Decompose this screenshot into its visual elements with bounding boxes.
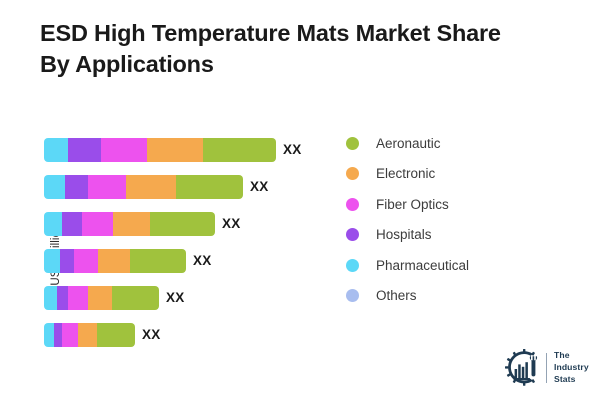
bar-row: XX (44, 286, 185, 310)
legend-item-electronic[interactable]: Electronic (346, 159, 546, 190)
bar-segment-electronic[interactable] (78, 323, 97, 347)
logo-wordmark: The Industry Stats (554, 350, 589, 386)
bar-segment-aeronautic[interactable] (112, 286, 159, 310)
stacked-bar[interactable] (44, 249, 186, 273)
stacked-bar[interactable] (44, 212, 215, 236)
legend-swatch-icon (346, 228, 359, 241)
bar-row: XX (44, 175, 269, 199)
logo-line-2: Industry (554, 362, 589, 372)
bar-segment-fiber-optics[interactable] (62, 323, 78, 347)
bar-segment-electronic[interactable] (126, 175, 176, 199)
bar-value-label: XX (283, 143, 302, 157)
bar-value-label: XX (250, 180, 269, 194)
bar-value-label: XX (166, 291, 185, 305)
bar-segment-electronic[interactable] (113, 212, 150, 236)
bar-segment-pharmaceutical[interactable] (44, 323, 54, 347)
legend-item-pharmaceutical[interactable]: Pharmaceutical (346, 250, 546, 281)
bar-segment-aeronautic[interactable] (176, 175, 243, 199)
bar-segment-pharmaceutical[interactable] (44, 175, 65, 199)
legend-item-aeronautic[interactable]: Aeronautic (346, 128, 546, 159)
legend-swatch-icon (346, 137, 359, 150)
legend-item-label: Fiber Optics (376, 198, 449, 212)
bar-segment-hospitals[interactable] (62, 212, 82, 236)
bar-segment-fiber-optics[interactable] (88, 175, 126, 199)
bar-segment-aeronautic[interactable] (203, 138, 276, 162)
bar-segment-hospitals[interactable] (68, 138, 101, 162)
chart-container: ESD High Temperature Mats Market Share B… (0, 0, 600, 400)
bar-segment-electronic[interactable] (88, 286, 112, 310)
bar-segment-fiber-optics[interactable] (74, 249, 98, 273)
bar-row: XX (44, 249, 212, 273)
bar-segment-fiber-optics[interactable] (82, 212, 113, 236)
bar-value-label: XX (193, 254, 212, 268)
legend-item-hospitals[interactable]: Hospitals (346, 220, 546, 251)
legend-item-label: Electronic (376, 167, 435, 181)
legend-swatch-icon (346, 289, 359, 302)
logo-line-1: The (554, 350, 570, 360)
bar-segment-hospitals[interactable] (57, 286, 68, 310)
bar-row: XX (44, 212, 241, 236)
bar-segment-pharmaceutical[interactable] (44, 249, 60, 273)
bar-segment-pharmaceutical[interactable] (44, 138, 68, 162)
bar-segment-fiber-optics[interactable] (101, 138, 147, 162)
bar-segment-aeronautic[interactable] (130, 249, 186, 273)
plot-area: XXXXXXXXXXXX (0, 0, 330, 400)
bar-row: XX (44, 323, 161, 347)
stacked-bar[interactable] (44, 138, 276, 162)
legend-item-others[interactable]: Others (346, 281, 546, 312)
bar-segment-hospitals[interactable] (65, 175, 88, 199)
bar-value-label: XX (142, 328, 161, 342)
brand-logo: The Industry Stats (504, 346, 596, 390)
bar-segment-fiber-optics[interactable] (68, 286, 88, 310)
logo-divider (546, 353, 547, 383)
bar-segment-electronic[interactable] (147, 138, 203, 162)
legend-swatch-icon (346, 259, 359, 272)
stacked-bar[interactable] (44, 286, 159, 310)
legend-item-label: Aeronautic (376, 137, 441, 151)
bar-segment-pharmaceutical[interactable] (44, 286, 57, 310)
legend-swatch-icon (346, 198, 359, 211)
logo-line-3: Stats (554, 374, 576, 384)
stacked-bar[interactable] (44, 323, 135, 347)
legend-item-label: Pharmaceutical (376, 259, 469, 273)
chart-legend: AeronauticElectronicFiber OpticsHospital… (346, 128, 546, 311)
stacked-bar[interactable] (44, 175, 243, 199)
bar-segment-hospitals[interactable] (60, 249, 74, 273)
legend-swatch-icon (346, 167, 359, 180)
legend-item-label: Others (376, 289, 417, 303)
bar-value-label: XX (222, 217, 241, 231)
bar-segment-pharmaceutical[interactable] (44, 212, 62, 236)
bar-segment-aeronautic[interactable] (150, 212, 215, 236)
legend-item-label: Hospitals (376, 228, 432, 242)
legend-item-fiber-optics[interactable]: Fiber Optics (346, 189, 546, 220)
bar-row: XX (44, 138, 302, 162)
bar-segment-hospitals[interactable] (54, 323, 62, 347)
bar-segment-electronic[interactable] (98, 249, 130, 273)
bar-segment-aeronautic[interactable] (97, 323, 135, 347)
industry-stats-gear-icon (504, 348, 544, 388)
